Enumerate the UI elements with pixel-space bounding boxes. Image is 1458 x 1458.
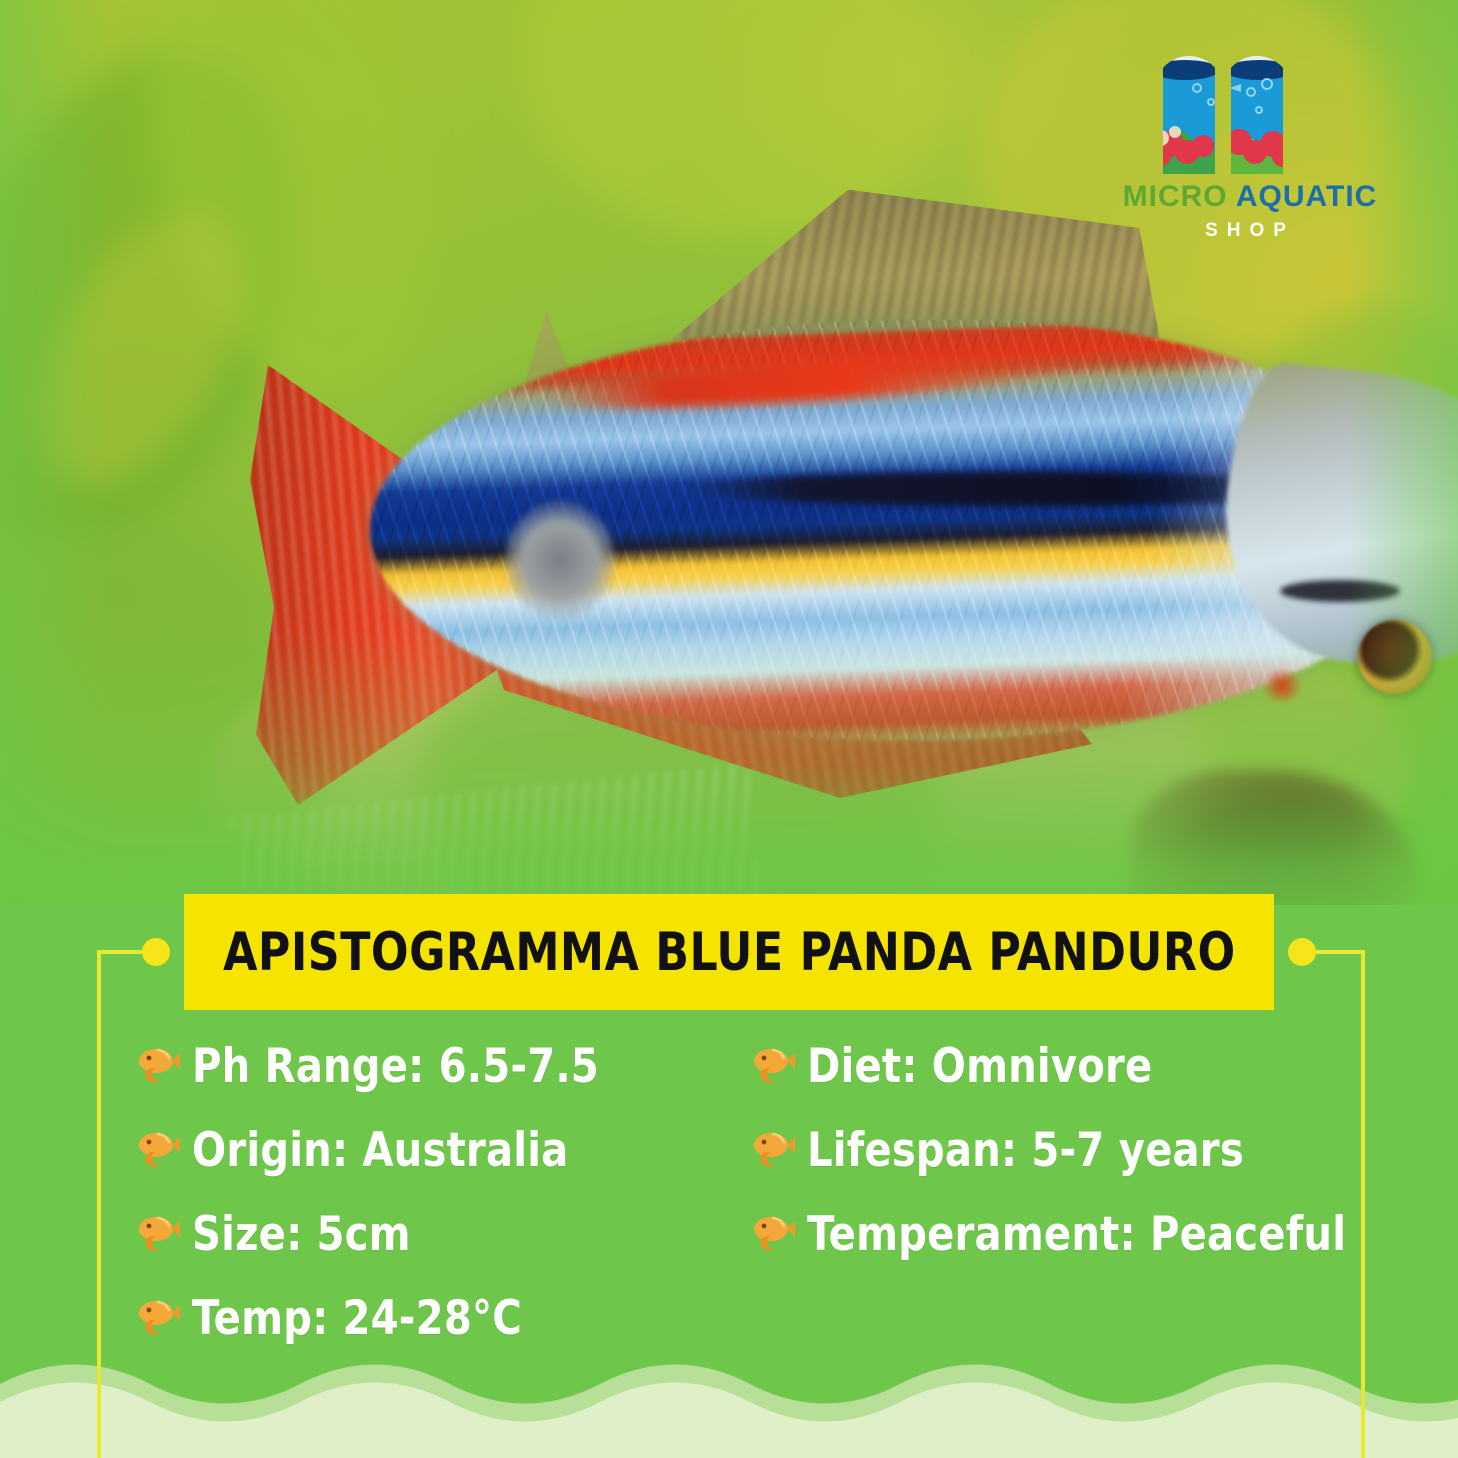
fish-bullet-icon bbox=[136, 1214, 180, 1254]
decorative-dot-right bbox=[1288, 938, 1316, 966]
spec-row: Size: 5cm bbox=[136, 1198, 746, 1270]
spec-text: Size: 5cm bbox=[192, 1207, 411, 1262]
caudal-peduncle bbox=[505, 500, 615, 620]
spec-text: Ph Range: 6.5-7.5 bbox=[192, 1039, 599, 1094]
spec-text: Temperament: Peaceful bbox=[807, 1207, 1346, 1262]
spec-text: Origin: Australia bbox=[192, 1123, 568, 1178]
brand-tagline: SHOP bbox=[1100, 220, 1400, 242]
m-aquarium-logo-icon bbox=[1155, 26, 1345, 176]
spec-row: Temperament: Peaceful bbox=[751, 1198, 1391, 1270]
fish-bullet-icon bbox=[751, 1214, 795, 1254]
spec-column-right: Diet: Omnivore Lifespan: 5-7 years bbox=[751, 1030, 1391, 1366]
spec-text: Lifespan: 5-7 years bbox=[807, 1123, 1244, 1178]
spec-row: Lifespan: 5-7 years bbox=[751, 1114, 1391, 1186]
product-info-card: MICRO AQUATIC SHOP APISTOGRAMMA BLUE PAN… bbox=[0, 0, 1458, 1458]
spec-row: Temp: 24-28°C bbox=[136, 1282, 746, 1354]
brand-logo[interactable]: MICRO AQUATIC SHOP bbox=[1100, 26, 1400, 256]
fish-bullet-icon bbox=[751, 1130, 795, 1170]
spec-text: Diet: Omnivore bbox=[807, 1039, 1153, 1094]
fish-bullet-icon bbox=[136, 1046, 180, 1086]
spec-row: Ph Range: 6.5-7.5 bbox=[136, 1030, 746, 1102]
brand-name: MICRO AQUATIC bbox=[1100, 182, 1400, 212]
brand-name-aquatic: AQUATIC bbox=[1236, 180, 1377, 213]
decorative-dot-left bbox=[142, 938, 170, 966]
brand-name-micro: MICRO bbox=[1123, 180, 1228, 213]
spec-list: Ph Range: 6.5-7.5 Origin: Australia bbox=[0, 1030, 1458, 1366]
fish-bullet-icon bbox=[136, 1130, 180, 1170]
dorsal-fin-rear bbox=[640, 180, 1160, 340]
fish-bullet-icon bbox=[751, 1046, 795, 1086]
title-banner: APISTOGRAMMA BLUE PANDA PANDURO bbox=[184, 894, 1274, 1010]
spec-column-left: Ph Range: 6.5-7.5 Origin: Australia bbox=[136, 1030, 746, 1366]
spec-row: Diet: Omnivore bbox=[751, 1030, 1391, 1102]
spec-text: Temp: 24-28°C bbox=[192, 1291, 522, 1346]
spec-row: Origin: Australia bbox=[136, 1114, 746, 1186]
page-title: APISTOGRAMMA BLUE PANDA PANDURO bbox=[223, 922, 1236, 983]
fish-bullet-icon bbox=[136, 1298, 180, 1338]
